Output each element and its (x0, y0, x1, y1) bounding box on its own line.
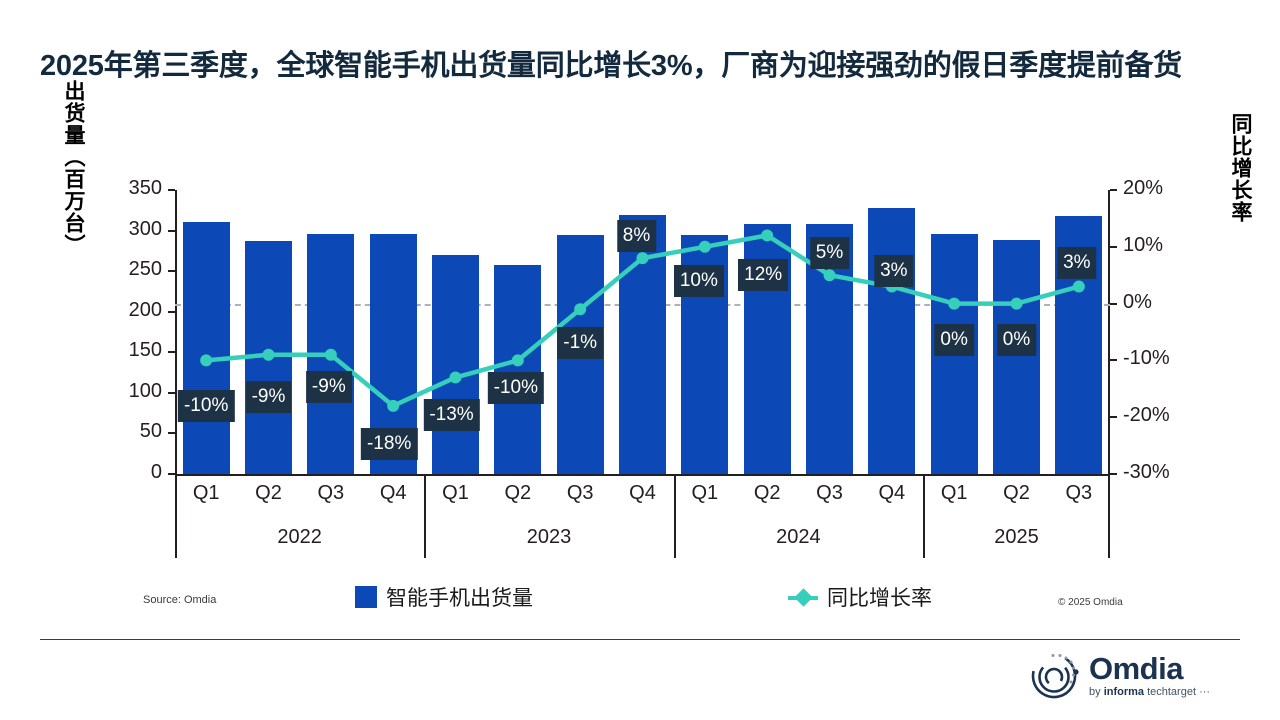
left-axis-tick (168, 270, 175, 272)
line-diamond-marker-icon (788, 586, 818, 608)
square-marker-icon (355, 586, 377, 608)
right-axis-tick-label: 0% (1123, 291, 1152, 314)
line-marker[interactable] (637, 252, 649, 264)
line-marker[interactable] (325, 349, 337, 361)
legend-item-shipments[interactable]: 智能手机出货量 (355, 582, 533, 612)
year-label: 2022 (277, 526, 322, 549)
quarter-label: Q1 (442, 482, 469, 505)
group-separator (424, 474, 426, 558)
left-axis-tick-label: 150 (129, 339, 162, 362)
data-label: -9% (306, 371, 352, 403)
group-separator (175, 474, 177, 558)
copyright-note: © 2025 Omdia (1058, 597, 1123, 608)
left-axis-tick (168, 473, 175, 475)
data-label: 5% (810, 237, 849, 269)
right-axis-tick-label: 20% (1123, 177, 1163, 200)
data-label: 10% (674, 265, 724, 297)
left-axis-tick-label: 100 (129, 380, 162, 403)
right-axis-tick-label: -10% (1123, 347, 1170, 370)
line-marker[interactable] (450, 371, 462, 383)
right-axis-tick (1110, 359, 1117, 361)
plot-area: -10%-9%-9%-18%-13%-10%-1%8%10%12%5%3%0%0… (175, 190, 1110, 474)
quarter-label: Q2 (255, 482, 282, 505)
left-axis-tick (168, 189, 175, 191)
chart: -10%-9%-9%-18%-13%-10%-1%8%10%12%5%3%0%0… (0, 170, 1280, 590)
line-marker[interactable] (200, 354, 212, 366)
data-label: 3% (1057, 247, 1096, 279)
left-axis-tick-label: 300 (129, 218, 162, 241)
data-label: 0% (997, 324, 1036, 356)
quarter-label: Q4 (629, 482, 656, 505)
quarter-label: Q2 (504, 482, 531, 505)
slide: 2025年第三季度，全球智能手机出货量同比增长3%，厂商为迎接强劲的假日季度提前… (0, 0, 1280, 720)
data-label: 3% (874, 255, 913, 287)
data-label: -9% (246, 381, 292, 413)
data-label: -18% (361, 428, 417, 460)
right-axis-tick (1110, 473, 1117, 475)
quarter-label: Q3 (1065, 482, 1092, 505)
omdia-logo: Omdia by informa techtarget ··· (1030, 650, 1210, 700)
data-label: 0% (934, 324, 973, 356)
quarter-label: Q1 (941, 482, 968, 505)
right-axis-tick-label: -30% (1123, 461, 1170, 484)
group-separator (923, 474, 925, 558)
line-marker[interactable] (824, 269, 836, 281)
source-note: Source: Omdia (143, 594, 216, 606)
quarter-label: Q1 (691, 482, 718, 505)
line-marker[interactable] (761, 229, 773, 241)
right-axis-tick (1110, 416, 1117, 418)
left-axis-tick (168, 230, 175, 232)
data-label: -10% (178, 390, 234, 422)
data-label: 8% (617, 220, 656, 252)
line-marker[interactable] (512, 354, 524, 366)
legend-label: 智能手机出货量 (386, 582, 533, 612)
category-axis-line (175, 474, 1110, 476)
right-axis-tick (1110, 246, 1117, 248)
left-axis-tick (168, 392, 175, 394)
logo-word: Omdia (1089, 653, 1210, 684)
line-marker[interactable] (699, 241, 711, 253)
legend-item-growth[interactable]: 同比增长率 (788, 582, 932, 612)
quarter-label: Q3 (816, 482, 843, 505)
omdia-wordmark: Omdia by informa techtarget ··· (1089, 653, 1210, 698)
data-label: 12% (738, 259, 788, 291)
right-axis-tick (1110, 303, 1117, 305)
year-label: 2023 (527, 526, 572, 549)
quarter-label: Q3 (317, 482, 344, 505)
legend-label: 同比增长率 (827, 582, 932, 612)
left-axis-tick (168, 311, 175, 313)
line-marker[interactable] (574, 303, 586, 315)
right-axis-tick (1110, 189, 1117, 191)
year-label: 2025 (994, 526, 1039, 549)
quarter-label: Q3 (567, 482, 594, 505)
right-axis-tick-label: -20% (1123, 404, 1170, 427)
quarter-label: Q2 (1003, 482, 1030, 505)
left-axis-tick-label: 350 (129, 177, 162, 200)
left-axis-tick (168, 351, 175, 353)
left-axis-tick-label: 0 (151, 461, 162, 484)
right-axis-tick-label: 10% (1123, 234, 1163, 257)
line-marker[interactable] (263, 349, 275, 361)
line-marker[interactable] (1011, 298, 1023, 310)
left-axis-tick-label: 200 (129, 299, 162, 322)
quarter-label: Q4 (380, 482, 407, 505)
quarter-label: Q4 (878, 482, 905, 505)
page-title: 2025年第三季度，全球智能手机出货量同比增长3%，厂商为迎接强劲的假日季度提前… (40, 47, 1245, 87)
logo-tagline: by informa techtarget ··· (1089, 687, 1210, 698)
line-marker[interactable] (387, 400, 399, 412)
left-axis-tick (168, 432, 175, 434)
data-label: -10% (488, 372, 544, 404)
data-label: -1% (557, 327, 603, 359)
group-separator (1108, 474, 1110, 558)
group-separator (674, 474, 676, 558)
quarter-label: Q1 (193, 482, 220, 505)
data-label: -13% (423, 399, 479, 431)
left-axis-tick-label: 50 (140, 420, 162, 443)
line-marker[interactable] (948, 298, 960, 310)
footer-divider (40, 639, 1240, 640)
left-axis-tick-label: 250 (129, 258, 162, 281)
year-label: 2024 (776, 526, 821, 549)
line-marker[interactable] (1073, 281, 1085, 293)
quarter-label: Q2 (754, 482, 781, 505)
omdia-ring-icon (1030, 650, 1080, 700)
